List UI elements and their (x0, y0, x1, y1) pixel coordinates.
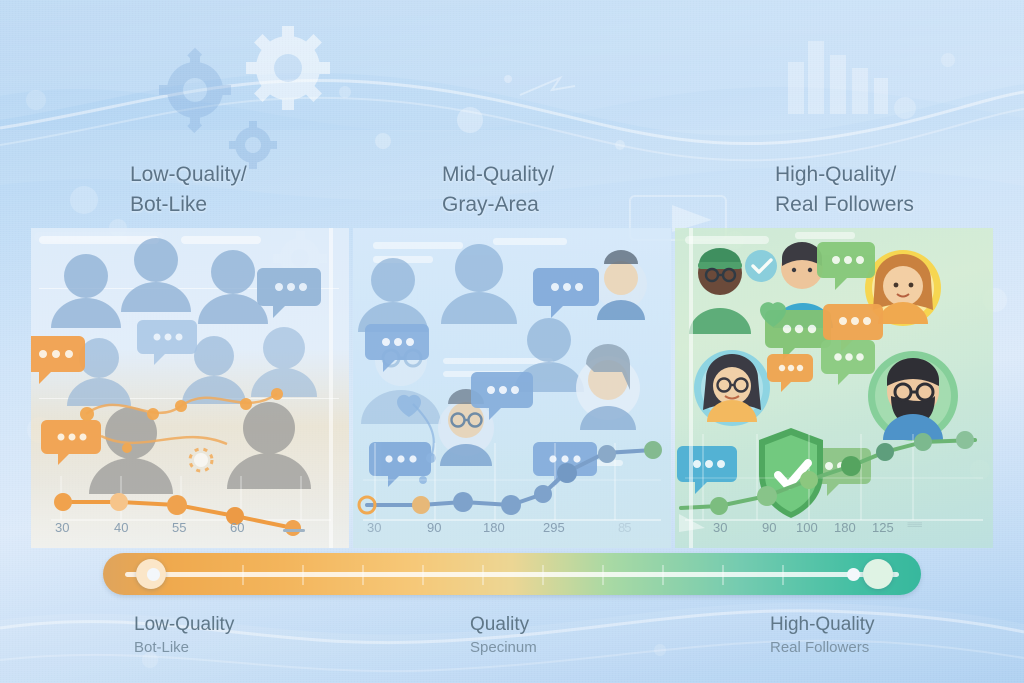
slider-stop-left[interactable] (147, 568, 160, 581)
tick-label: 125 (872, 520, 894, 535)
avatar-portrait (689, 248, 751, 334)
infographic-canvas: Low-Quality/Bot-Like Mid-Quality/Gray-Ar… (0, 0, 1024, 683)
avatar-portrait (694, 350, 770, 426)
tick-label: 90 (762, 520, 776, 535)
avatar-portrait (868, 351, 958, 441)
header-line-1: Low-Quality/ (130, 163, 247, 186)
panel-low-quality[interactable]: 30 40 55 60 (31, 228, 349, 548)
tick-label: 30 (713, 520, 727, 535)
header-line-2: Real Followers (775, 193, 914, 216)
label-subtitle: Specinum (470, 637, 537, 659)
panel-high-quality-art (675, 228, 993, 548)
tick-label: 60 (230, 520, 244, 535)
header-line-2: Gray-Area (442, 193, 539, 216)
label-subtitle: Real Followers (770, 637, 875, 659)
tick-label-blurred: 85 (618, 520, 630, 535)
tick-label-blurred (283, 529, 305, 532)
panel-divider (329, 228, 333, 548)
label-title: Quality (470, 612, 537, 637)
chat-bubble-icon (137, 320, 197, 365)
panel-header-high-quality: High-Quality/Real Followers (775, 160, 914, 220)
header-line-1: High-Quality/ (775, 163, 896, 186)
chat-bubble-icon (41, 420, 101, 465)
label-title: High-Quality (770, 612, 875, 637)
panel-high-quality[interactable]: 30 90 100 180 125 ≡≡≡ (675, 228, 993, 548)
chart-tick-labels-low-quality: 30 40 55 60 (31, 520, 349, 542)
spectrum-label-mid: Quality Specinum (470, 612, 537, 659)
tick-label: 90 (427, 520, 441, 535)
chart-tick-labels-mid-quality: 30 90 180 295 85 (353, 520, 671, 542)
tick-label: 100 (796, 520, 818, 535)
tick-label: 40 (114, 520, 128, 535)
tick-label: 295 (543, 520, 565, 535)
header-line-2: Bot-Like (130, 193, 207, 216)
chat-bubble-icon (821, 340, 875, 385)
panel-headers: Low-Quality/Bot-Like Mid-Quality/Gray-Ar… (0, 160, 1024, 222)
avatar-portrait (576, 344, 640, 430)
tick-label: 180 (834, 520, 856, 535)
tick-label: 55 (172, 520, 186, 535)
spectrum-label-high: High-Quality Real Followers (770, 612, 875, 659)
panel-header-mid-quality: Mid-Quality/Gray-Area (442, 160, 554, 220)
quality-panels: 30 40 55 60 (31, 228, 993, 548)
chat-bubble-icon (677, 446, 737, 494)
panel-header-low-quality: Low-Quality/Bot-Like (130, 160, 247, 220)
panel-mid-quality-art (353, 228, 671, 548)
panel-low-quality-art (31, 228, 349, 548)
tick-label: 30 (367, 520, 381, 535)
tick-label: 30 (55, 520, 69, 535)
chat-bubble-icon (257, 268, 321, 318)
avatar-portrait (595, 250, 647, 320)
tick-label-blurred: ≡≡≡ (907, 520, 922, 531)
label-subtitle: Bot-Like (134, 637, 234, 659)
slider-handle-right[interactable] (863, 559, 893, 589)
chart-tick-labels-high-quality: 30 90 100 180 125 ≡≡≡ (675, 520, 993, 542)
slider-ticks (103, 553, 921, 595)
slider-stop-right[interactable] (847, 568, 860, 581)
tick-label: 180 (483, 520, 505, 535)
panel-divider (689, 228, 693, 548)
label-title: Low-Quality (134, 612, 234, 637)
chat-bubble-icon (533, 268, 599, 318)
header-line-1: Mid-Quality/ (442, 163, 554, 186)
quality-spectrum-slider[interactable] (103, 553, 921, 595)
chat-bubble-icon (31, 336, 85, 384)
verified-badge-icon (745, 250, 777, 282)
chat-bubble-icon (767, 354, 813, 392)
spectrum-labels: Low-Quality Bot-Like Quality Specinum Hi… (0, 612, 1024, 674)
panel-mid-quality[interactable]: 30 90 180 295 85 (353, 228, 671, 548)
spectrum-label-low: Low-Quality Bot-Like (134, 612, 234, 659)
